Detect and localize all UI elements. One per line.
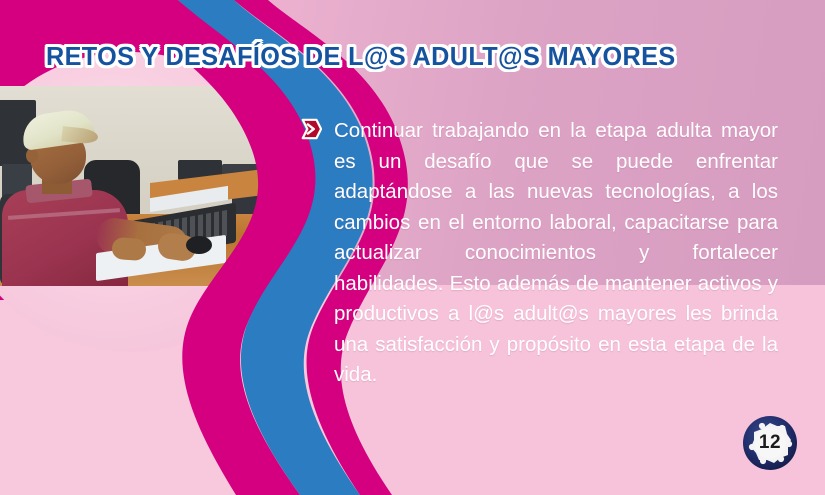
page-title: RETOS Y DESAFÍOS DE L@S ADULT@S MAYORES [46, 41, 676, 72]
photo-person-hand-left [111, 237, 146, 261]
page-number-badge: 12 [736, 409, 804, 477]
presentation-slide: RETOS Y DESAFÍOS DE L@S ADULT@S MAYORES … [0, 0, 825, 495]
photo-scene [0, 86, 296, 286]
photo-mouse [186, 236, 212, 254]
content-bullet-row: Continuar trabajando en la etapa adulta … [300, 116, 778, 391]
photo-person-ear [26, 148, 38, 163]
arrowhead-bullet-icon [300, 118, 322, 140]
body-paragraph: Continuar trabajando en la etapa adulta … [334, 116, 778, 391]
page-number-label: 12 [736, 409, 804, 477]
slide-photo [0, 86, 296, 286]
